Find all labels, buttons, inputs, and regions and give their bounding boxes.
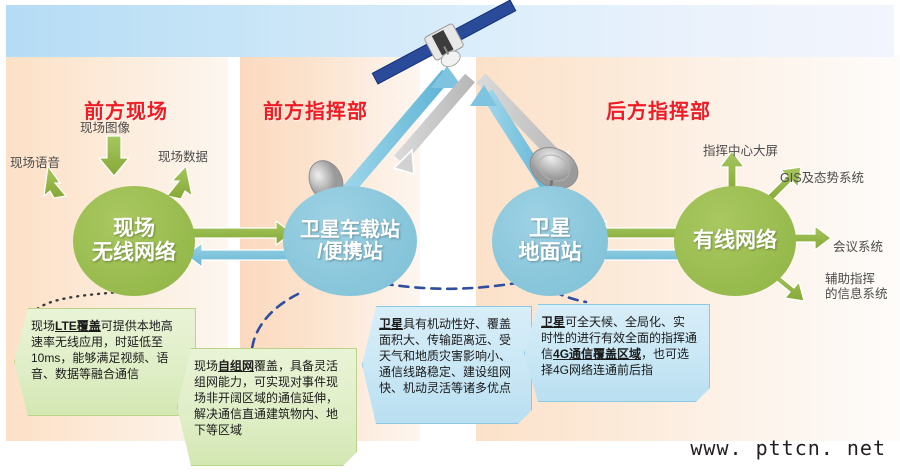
text-run-0: 卫星 bbox=[541, 315, 565, 329]
node-satellite-ground-line2: 地面站 bbox=[519, 241, 582, 265]
callout-lte-coverage: 现场LTE覆盖可提供本地高速率无线应用，时延低至10ms，能够满足视频、语音、数… bbox=[14, 308, 196, 416]
node-site-wireless-line1: 现场 bbox=[92, 217, 176, 241]
callout-mesh-coverage: 现场自组网覆盖，具备灵活组网能力，可实现对事件现场非开阔区域的通信延伸，解决通信… bbox=[177, 348, 357, 466]
text-run-1: 自组网 bbox=[218, 359, 254, 373]
node-satellite-vehicle-line1: 卫星车载站 bbox=[300, 219, 400, 241]
text-run-0: 现场 bbox=[194, 359, 218, 373]
text-run-0: 现场 bbox=[31, 319, 55, 333]
text-run-0: 卫星 bbox=[379, 317, 403, 331]
node-satellite-ground[interactable]: 卫星 地面站 bbox=[492, 186, 608, 296]
zone-title-front-command: 前方指挥部 bbox=[263, 95, 368, 124]
label-gis-situation: GIS及态势系统 bbox=[780, 167, 864, 186]
zone-title-rear-command: 后方指挥部 bbox=[606, 95, 711, 124]
node-satellite-ground-line1: 卫星 bbox=[519, 217, 582, 241]
node-wired-network[interactable]: 有线网络 bbox=[674, 186, 796, 296]
text-run-1: LTE覆盖 bbox=[55, 319, 101, 333]
node-site-wireless[interactable]: 现场 无线网络 bbox=[73, 186, 195, 296]
label-meeting-system: 会议系统 bbox=[833, 236, 883, 255]
text-run-2: 4G通信覆盖区域 bbox=[553, 347, 641, 361]
diagram-canvas: 前方现场 前方指挥部 后方指挥部 现场 无线网络 卫星车载站 /便携站 卫星 地… bbox=[0, 0, 900, 472]
callout-satellite-advantages: 卫星具有机动性好、覆盖面积大、传输距离远、受天气和地质灾害影响小、通信线路稳定、… bbox=[362, 306, 532, 424]
node-satellite-vehicle-line2: /便携站 bbox=[300, 241, 400, 263]
node-satellite-vehicle[interactable]: 卫星车载站 /便携站 bbox=[283, 186, 417, 296]
label-site-voice: 现场语音 bbox=[10, 152, 60, 171]
label-command-bigscreen: 指挥中心大屏 bbox=[703, 140, 778, 159]
node-site-wireless-line2: 无线网络 bbox=[92, 241, 176, 265]
sky-banner bbox=[6, 5, 894, 57]
label-aux-command-2: 的信息系统 bbox=[825, 283, 888, 302]
label-site-data: 现场数据 bbox=[158, 146, 208, 165]
label-site-image: 现场图像 bbox=[80, 117, 130, 136]
site-watermark: www. pttcn. net bbox=[690, 436, 886, 460]
node-wired-network-line1: 有线网络 bbox=[693, 229, 777, 253]
callout-satellite-4g: 卫星可全天候、全局化、实时性的进行有效全面的指挥通信4G通信覆盖区域，也可选择4… bbox=[524, 304, 710, 402]
